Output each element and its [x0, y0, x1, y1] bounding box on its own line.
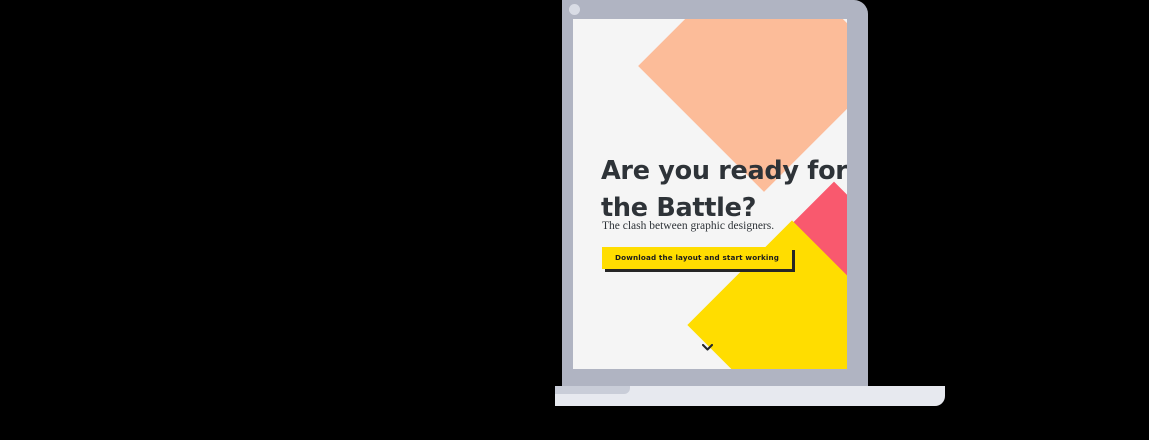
- laptop-base-notch: [555, 386, 630, 394]
- laptop-display: Are you ready for the Battle? The clash …: [573, 19, 847, 369]
- cta-container: Download the layout and start working: [602, 247, 792, 269]
- chevron-down-icon[interactable]: [700, 341, 714, 353]
- scene: Are you ready for the Battle? The clash …: [0, 0, 1149, 440]
- webcam-dot-icon: [569, 4, 580, 15]
- hero-subtitle: The clash between graphic designers.: [602, 219, 774, 234]
- laptop-mockup: Are you ready for the Battle? The clash …: [0, 0, 1149, 440]
- page-title: Are you ready for the Battle?: [601, 153, 847, 227]
- hero-section: Are you ready for the Battle? The clash …: [573, 19, 847, 369]
- download-layout-button[interactable]: Download the layout and start working: [602, 247, 792, 269]
- laptop-lid-chin: [562, 369, 868, 386]
